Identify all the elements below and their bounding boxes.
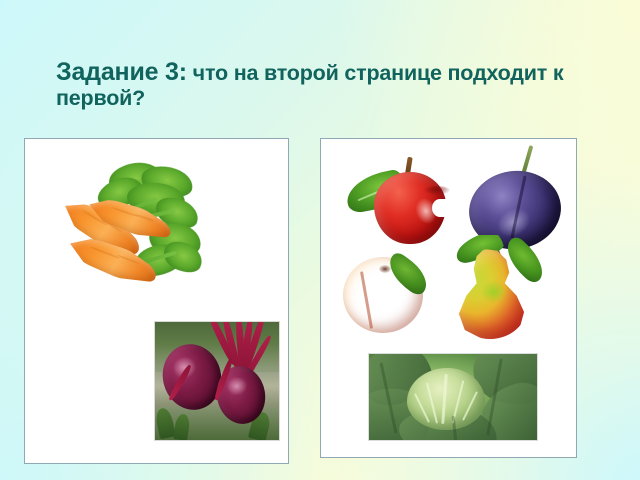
pear-green-patch (481, 281, 507, 303)
page-title: Задание 3: что на второй странице подход… (56, 58, 601, 110)
slide-canvas: Задание 3: что на второй странице подход… (0, 0, 640, 480)
second-page-panel[interactable] (320, 138, 577, 458)
beet-grass-icon (154, 407, 176, 440)
carrots-image[interactable] (53, 161, 203, 306)
cabbage-image[interactable] (368, 353, 538, 441)
peach-image[interactable] (339, 247, 435, 335)
beets-image[interactable] (154, 321, 280, 441)
peach-dimple (379, 265, 391, 273)
pear-image[interactable] (441, 235, 561, 341)
title-lead-text: Задание 3: (56, 58, 187, 86)
first-page-panel[interactable] (24, 138, 289, 464)
beet-grass-icon (173, 413, 190, 441)
apple-notch (432, 199, 448, 217)
peach-crease (360, 271, 373, 329)
apple-dimple (424, 186, 450, 195)
cabbage-head-icon (407, 368, 485, 430)
apple-image[interactable] (346, 157, 450, 247)
